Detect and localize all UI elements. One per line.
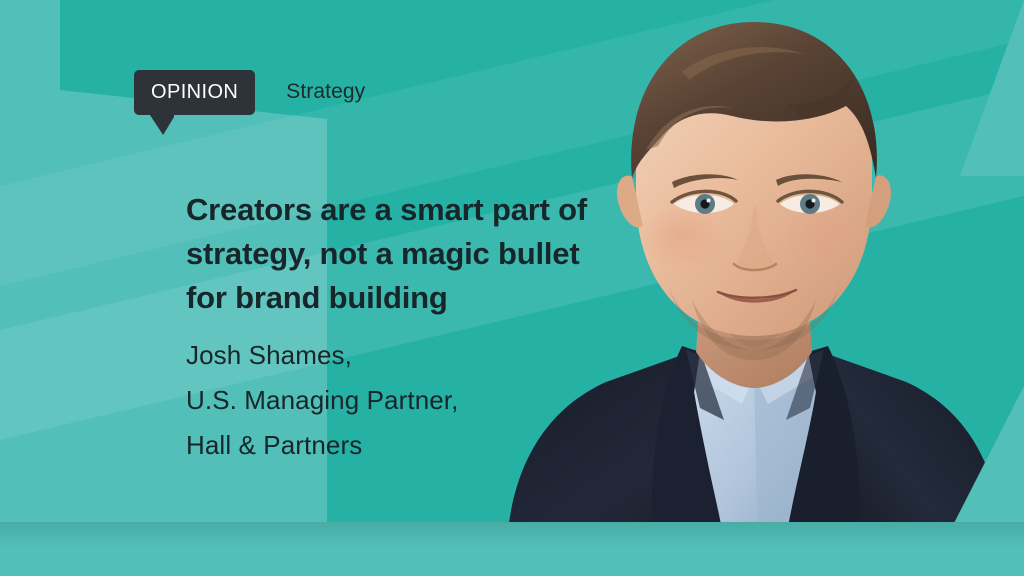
category-kicker-strategy[interactable]: Strategy (286, 81, 365, 102)
eyebrow-row: OPINION Strategy (134, 70, 365, 115)
headline-line-1: Creators are a smart part of (186, 188, 626, 232)
attribution-title: U.S. Managing Partner, (186, 378, 586, 423)
opinion-badge-label: OPINION (134, 70, 255, 115)
headline-line-3: for brand building (186, 276, 626, 320)
opinion-quote-card: OPINION Strategy Creators are a smart pa… (0, 0, 1024, 576)
headline-line-2: strategy, not a magic bullet (186, 232, 626, 276)
opinion-badge[interactable]: OPINION (134, 70, 255, 115)
headline: Creators are a smart part of strategy, n… (186, 188, 626, 320)
attribution: Josh Shames, U.S. Managing Partner, Hall… (186, 333, 586, 468)
attribution-company: Hall & Partners (186, 423, 586, 468)
attribution-name: Josh Shames, (186, 333, 586, 378)
portrait-base-shadow (0, 522, 1024, 548)
